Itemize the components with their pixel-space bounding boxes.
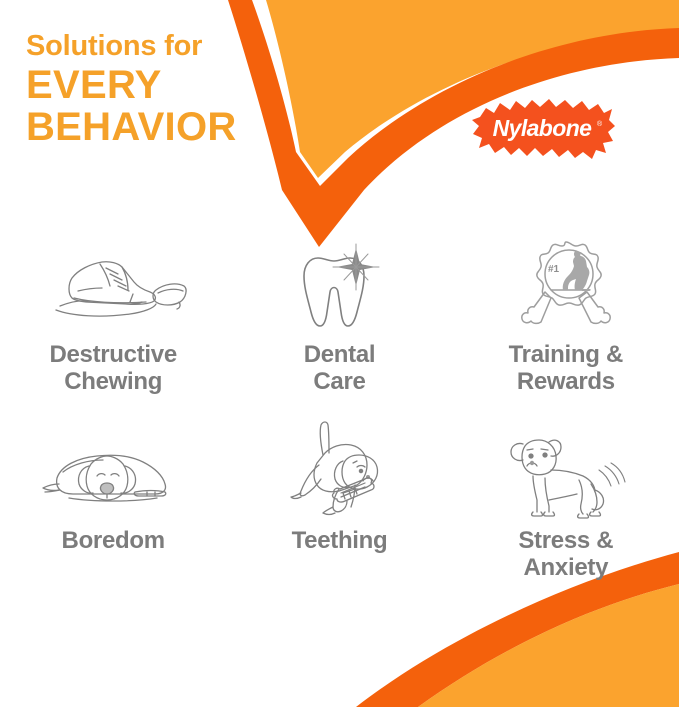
headline-line-1: Solutions for [26, 32, 237, 61]
grid-item-label: Destructive Chewing [49, 342, 176, 396]
grid-item-destructive-chewing[interactable]: Destructive Chewing [0, 236, 226, 426]
nylabone-logo: Nylabone ® [470, 93, 616, 165]
anxious-standing-dog-icon [503, 426, 628, 522]
grid-item-label: Dental Care [304, 342, 376, 396]
nylabone-wordmark: Nylabone [493, 115, 593, 141]
headline-line-2: EVERY [26, 65, 237, 105]
puppy-chewing-bone-icon [279, 426, 399, 522]
award-rosette-dog-icon: #1 [511, 236, 621, 336]
grid-item-label: Teething [292, 528, 388, 555]
badge-rank-text: #1 [548, 264, 560, 275]
grid-item-teething[interactable]: Teething [226, 426, 452, 616]
grid-item-boredom[interactable]: Boredom [0, 426, 226, 616]
chewed-shoe-icon [38, 236, 188, 336]
poster-canvas: Solutions for EVERY BEHAVIOR Nylabone ® [0, 0, 679, 707]
grid-item-label: Training & Rewards [509, 342, 623, 396]
grid-item-label: Boredom [62, 528, 165, 555]
grid-item-label: Stress & Anxiety [518, 528, 613, 582]
trademark-symbol: ® [597, 120, 603, 128]
headline-line-3: BEHAVIOR [26, 107, 237, 147]
grid-item-stress-anxiety[interactable]: Stress & Anxiety [453, 426, 679, 616]
headline-block: Solutions for EVERY BEHAVIOR [26, 32, 237, 147]
lying-bored-dog-icon [33, 426, 193, 522]
grid-item-training-rewards[interactable]: #1 Training & Rewards [453, 236, 679, 426]
sparkling-tooth-icon [284, 236, 394, 336]
behavior-icon-grid: Destructive Chewing Dental Care [0, 236, 679, 616]
grid-item-dental-care[interactable]: Dental Care [226, 236, 452, 426]
